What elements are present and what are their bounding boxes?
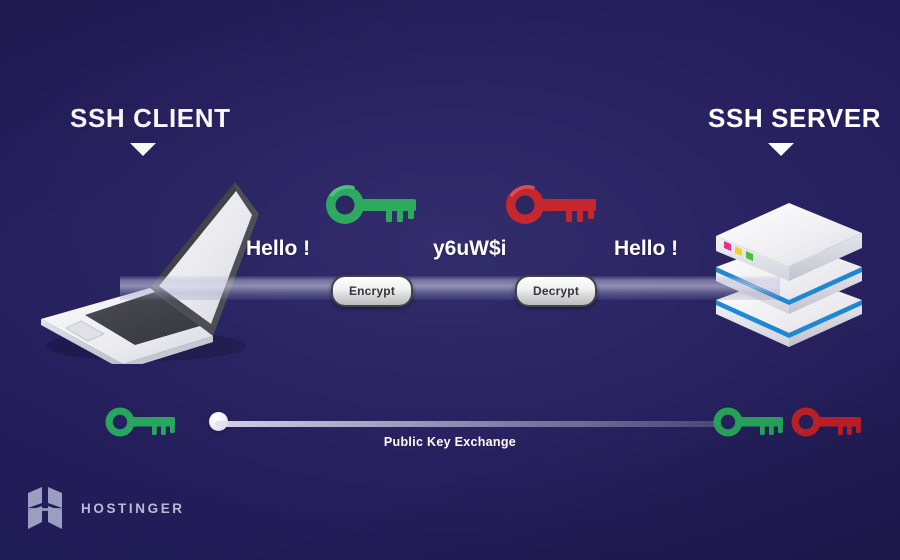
encrypt-button[interactable]: Encrypt (331, 275, 413, 307)
green-key-icon-server-public (711, 405, 789, 439)
server-title: SSH SERVER (708, 103, 881, 134)
plaintext-message-right: Hello ! (614, 237, 678, 261)
laptop-icon (28, 178, 264, 364)
decrypt-button[interactable]: Decrypt (515, 275, 597, 307)
data-channel-band (120, 276, 780, 300)
red-key-icon-server-public (789, 405, 867, 439)
server-stack-icon (704, 195, 874, 350)
green-key-icon-client-public (103, 405, 181, 439)
plaintext-message-left: Hello ! (246, 237, 310, 261)
public-key-exchange-line (215, 421, 735, 427)
client-title: SSH CLIENT (70, 103, 231, 134)
red-key-icon-decrypt (503, 183, 603, 227)
hostinger-logo: HOSTINGER (28, 487, 185, 529)
green-key-icon-encrypt (323, 183, 423, 227)
hostinger-logo-icon (28, 487, 68, 529)
triangle-down-icon-client (130, 143, 156, 156)
triangle-down-icon-server (768, 143, 794, 156)
ciphertext-message: y6uW$i (433, 237, 507, 261)
hostinger-wordmark: HOSTINGER (81, 501, 185, 516)
ssh-diagram-canvas: SSH CLIENT SSH SERVER (0, 0, 900, 560)
